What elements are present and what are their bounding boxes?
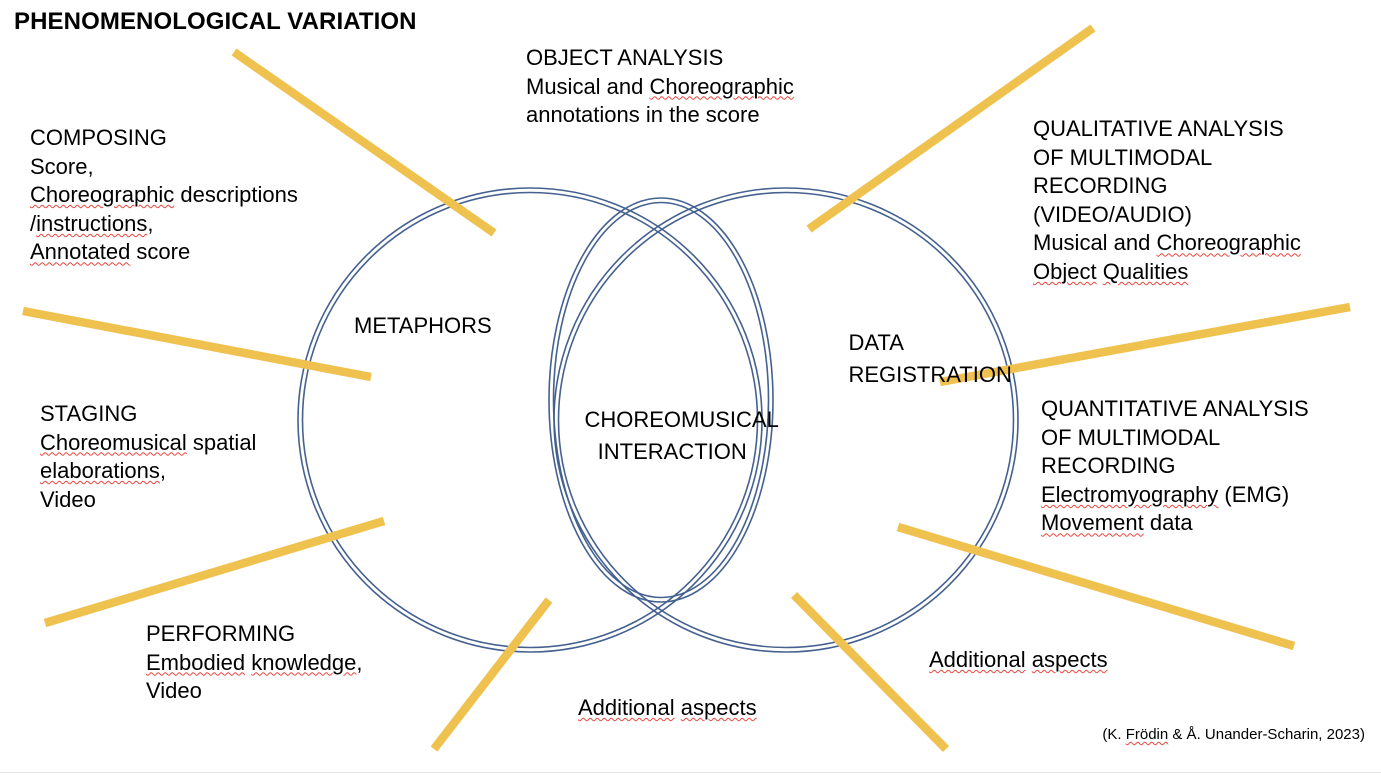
- node-staging: STAGINGChoreomusical spatialelaborations…: [40, 400, 256, 514]
- node-qualitative-analysis: QUALITATIVE ANALYSISOF MULTIMODALRECORDI…: [1033, 115, 1301, 287]
- data-registration-line1: DATA: [848, 330, 903, 355]
- qualitative-analysis-line-1: OF MULTIMODAL: [1033, 144, 1301, 173]
- diagram-canvas: PHENOMENOLOGICAL VARIATION CHOREOMUSICAL…: [0, 0, 1381, 779]
- composing-line-1: Score,: [30, 153, 298, 182]
- performing-line-2: Video: [146, 677, 363, 706]
- staging-line-2: elaborations,: [40, 457, 256, 486]
- slide-bottom-divider: [0, 772, 1381, 773]
- staging-line-3: Video: [40, 486, 256, 515]
- node-additional-left: Additional aspects: [578, 694, 757, 723]
- node-performing: PERFORMINGEmbodied knowledge,Video: [146, 620, 363, 706]
- performing-line-1: Embodied knowledge,: [146, 649, 363, 678]
- performing-heading: PERFORMING: [146, 620, 363, 649]
- credit-line: (K. Frödin & Å. Unander-Scharin, 2023): [1102, 726, 1365, 743]
- page-title: PHENOMENOLOGICAL VARIATION: [14, 8, 417, 36]
- metaphors-label: METAPHORS: [354, 310, 514, 342]
- quantitative-analysis-line-2: RECORDING: [1041, 452, 1309, 481]
- data-registration-label: DATA REGISTRATION: [824, 295, 1014, 423]
- composing-line-2: Choreographic descriptions: [30, 181, 298, 210]
- quantitative-analysis-line-3: Electromyography (EMG): [1041, 481, 1309, 510]
- quantitative-connector: [898, 527, 1294, 646]
- composing-heading: COMPOSING: [30, 124, 298, 153]
- core-label: CHOREOMUSICAL INTERACTION: [560, 372, 760, 500]
- additional-left-line-1: Additional aspects: [578, 694, 757, 723]
- core-label-line1: CHOREOMUSICAL: [584, 407, 778, 432]
- node-object-analysis: OBJECT ANALYSISMusical and Choreographic…: [526, 44, 794, 130]
- qualitative-analysis-line-4: Musical and Choreographic: [1033, 229, 1301, 258]
- composing-line-3: /instructions,: [30, 210, 298, 239]
- additional-right-line-1: Additional aspects: [929, 646, 1108, 675]
- staging-heading: STAGING: [40, 400, 256, 429]
- additional-right-connector: [794, 595, 946, 749]
- qualitative-analysis-line-2: RECORDING: [1033, 172, 1301, 201]
- additional-left-connector: [434, 600, 549, 749]
- data-registration-line2: REGISTRATION: [848, 362, 1011, 387]
- qualitative-analysis-heading: QUALITATIVE ANALYSIS: [1033, 115, 1301, 144]
- qualitative-analysis-line-5: Object Qualities: [1033, 258, 1301, 287]
- object-analysis-line-1: Musical and Choreographic: [526, 73, 794, 102]
- composing-line-4: Annotated score: [30, 238, 298, 267]
- quantitative-analysis-line-1: OF MULTIMODAL: [1041, 424, 1309, 453]
- node-composing: COMPOSINGScore,Choreographic description…: [30, 124, 298, 267]
- node-quantitative-analysis: QUANTITATIVE ANALYSISOF MULTIMODALRECORD…: [1041, 395, 1309, 538]
- staging-line-1: Choreomusical spatial: [40, 429, 256, 458]
- core-label-line2: INTERACTION: [598, 439, 747, 464]
- quantitative-analysis-heading: QUANTITATIVE ANALYSIS: [1041, 395, 1309, 424]
- qualitative-analysis-line-3: (VIDEO/AUDIO): [1033, 201, 1301, 230]
- object-analysis-heading: OBJECT ANALYSIS: [526, 44, 794, 73]
- object-analysis-line-2: annotations in the score: [526, 101, 794, 130]
- staging-connector: [23, 311, 371, 377]
- node-additional-right: Additional aspects: [929, 646, 1108, 675]
- performing-connector: [45, 521, 384, 623]
- quantitative-analysis-line-4: Movement data: [1041, 509, 1309, 538]
